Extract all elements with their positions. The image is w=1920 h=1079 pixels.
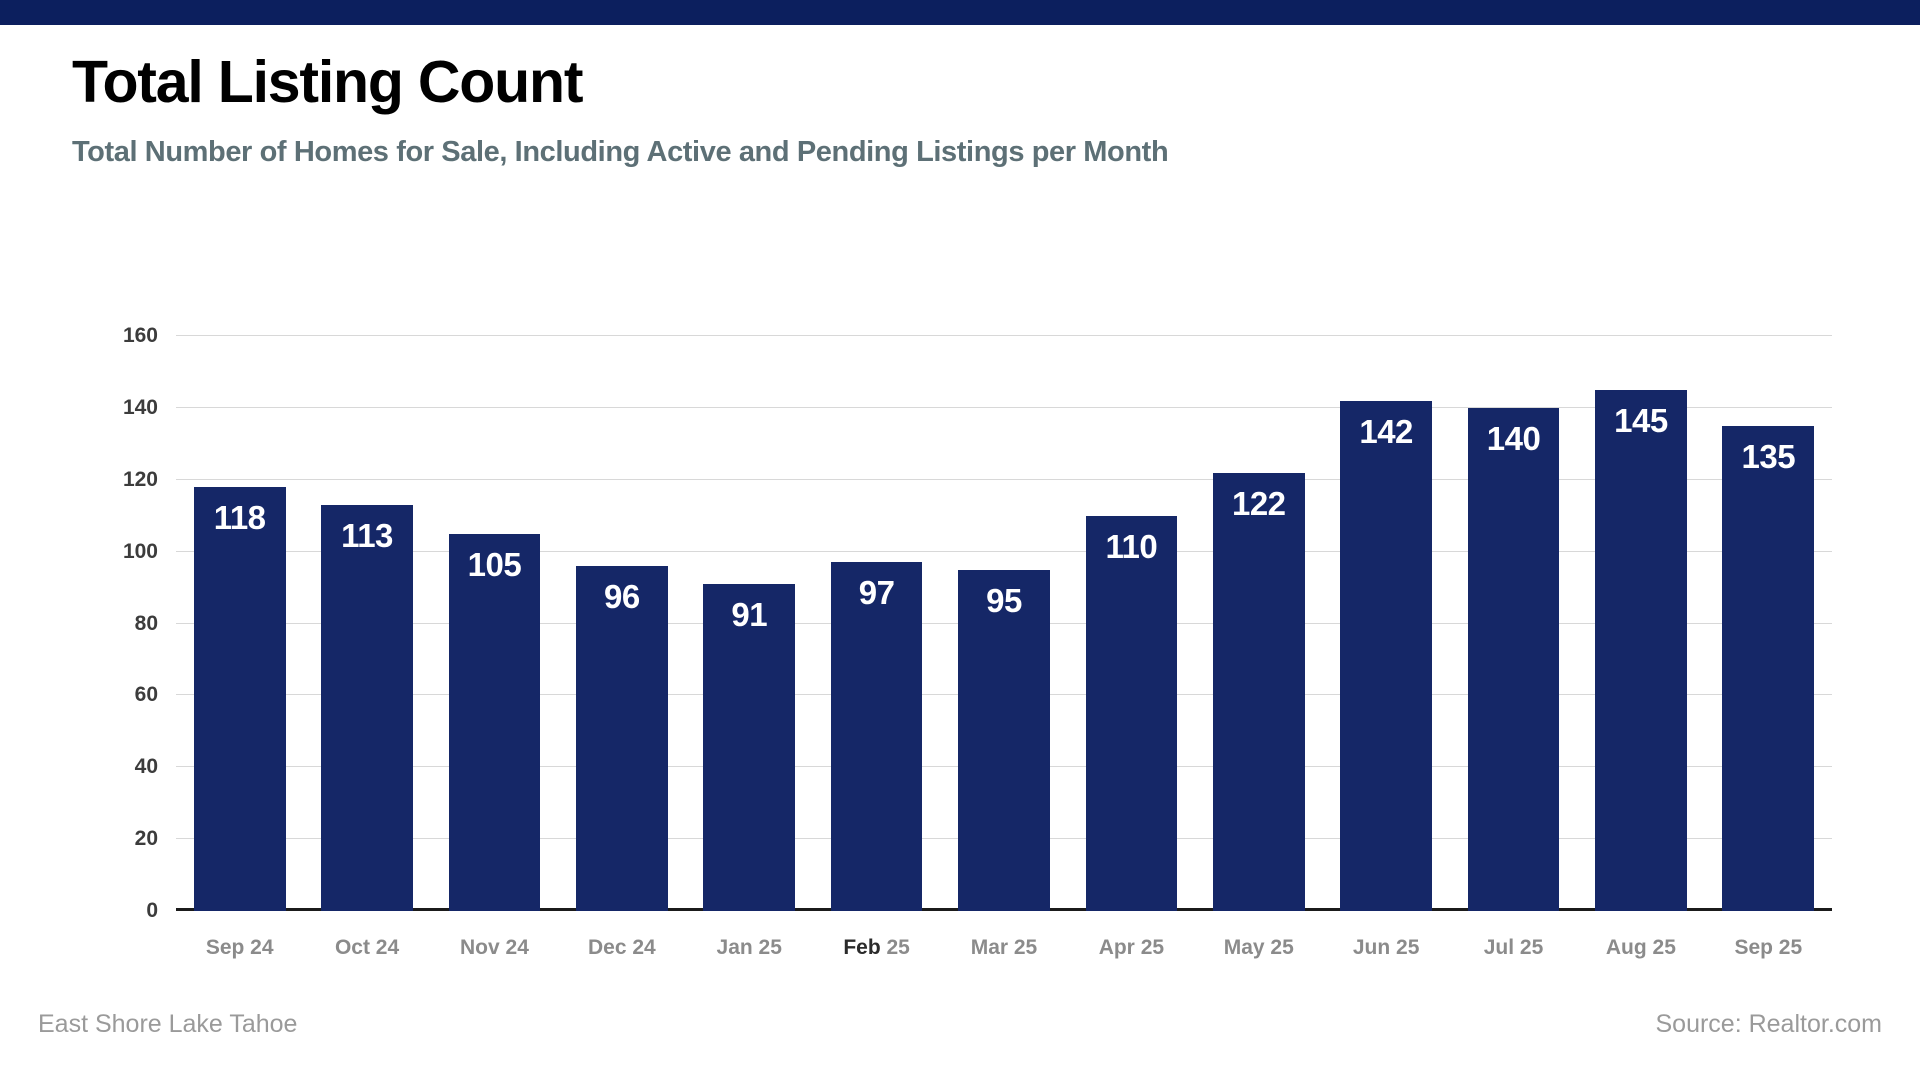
bar: 91 [703, 584, 795, 911]
bar-value-label: 95 [958, 584, 1050, 617]
bar: 142 [1340, 401, 1432, 911]
chart-page: Total Listing Count Total Number of Home… [0, 0, 1920, 1079]
bar: 118 [194, 487, 286, 911]
bar: 95 [958, 570, 1050, 911]
x-axis-tick-label: Jul 25 [1450, 936, 1577, 960]
x-axis-tick-label: Sep 25 [1705, 936, 1832, 960]
x-axis-tick-label: May 25 [1195, 936, 1322, 960]
page-subtitle: Total Number of Homes for Sale, Includin… [72, 136, 1872, 169]
bar-slot: 118 [194, 336, 286, 911]
bar: 110 [1086, 516, 1178, 911]
x-axis-tick-label: Oct 24 [303, 936, 430, 960]
bar: 145 [1595, 390, 1687, 911]
x-axis-tick-labels: Sep 24Oct 24Nov 24Dec 24Jan 25Feb 25Mar … [176, 936, 1832, 972]
footer-region-label: East Shore Lake Tahoe [38, 1010, 297, 1039]
bar-value-label: 142 [1340, 415, 1432, 448]
bar-slot: 105 [449, 336, 541, 911]
bar-slot: 145 [1595, 336, 1687, 911]
bar-slot: 142 [1340, 336, 1432, 911]
page-title: Total Listing Count [72, 52, 1872, 114]
y-axis-tick-label: 0 [70, 899, 158, 923]
x-axis-tick-label: Jan 25 [686, 936, 813, 960]
y-axis-tick-label: 100 [70, 540, 158, 564]
bar-value-label: 97 [831, 576, 923, 609]
y-axis-tick-label: 140 [70, 396, 158, 420]
bar: 135 [1722, 426, 1814, 911]
bar: 140 [1468, 408, 1560, 911]
x-axis-tick-label: Feb 25 [813, 936, 940, 960]
x-axis-tick-label: Jun 25 [1322, 936, 1449, 960]
x-axis-tick-label: Aug 25 [1577, 936, 1704, 960]
bar: 113 [321, 505, 413, 911]
bar-value-label: 140 [1468, 422, 1560, 455]
bar: 122 [1213, 473, 1305, 911]
chart-header: Total Listing Count Total Number of Home… [72, 52, 1872, 169]
top-accent-bar [0, 0, 1920, 25]
bar-value-label: 118 [194, 501, 286, 534]
bar-value-label: 91 [703, 598, 795, 631]
y-axis-tick-label: 20 [70, 827, 158, 851]
bar-value-label: 110 [1086, 530, 1178, 563]
bar-value-label: 122 [1213, 487, 1305, 520]
bar-value-label: 113 [321, 519, 413, 552]
x-axis-tick-label: Dec 24 [558, 936, 685, 960]
footer-source-label: Source: Realtor.com [1656, 1010, 1883, 1039]
x-axis-tick-label: Nov 24 [431, 936, 558, 960]
x-axis-tick-label: Apr 25 [1068, 936, 1195, 960]
bar-slot: 110 [1086, 336, 1178, 911]
y-axis-tick-label: 60 [70, 683, 158, 707]
y-axis-tick-label: 160 [70, 324, 158, 348]
bar-slot: 95 [958, 336, 1050, 911]
bar-slot: 113 [321, 336, 413, 911]
bar-value-label: 96 [576, 580, 668, 613]
chart-plot-area: 020406080100120140160 118113105969197951… [176, 336, 1832, 911]
bar-value-label: 135 [1722, 440, 1814, 473]
bar-slot: 122 [1213, 336, 1305, 911]
y-axis-tick-label: 40 [70, 755, 158, 779]
bar-value-label: 145 [1595, 404, 1687, 437]
bar-slot: 91 [703, 336, 795, 911]
bar-slot: 140 [1468, 336, 1560, 911]
bar-series: 11811310596919795110122142140145135 [176, 336, 1832, 911]
x-axis-tick-label: Mar 25 [940, 936, 1067, 960]
bar-value-label: 105 [449, 548, 541, 581]
bar-slot: 97 [831, 336, 923, 911]
bar-slot: 135 [1722, 336, 1814, 911]
bar: 96 [576, 566, 668, 911]
bar: 105 [449, 534, 541, 911]
chart-footer: East Shore Lake Tahoe Source: Realtor.co… [0, 1010, 1920, 1056]
y-axis-tick-label: 80 [70, 612, 158, 636]
bar-slot: 96 [576, 336, 668, 911]
y-axis-tick-label: 120 [70, 468, 158, 492]
bar: 97 [831, 562, 923, 911]
x-axis-tick-label: Sep 24 [176, 936, 303, 960]
